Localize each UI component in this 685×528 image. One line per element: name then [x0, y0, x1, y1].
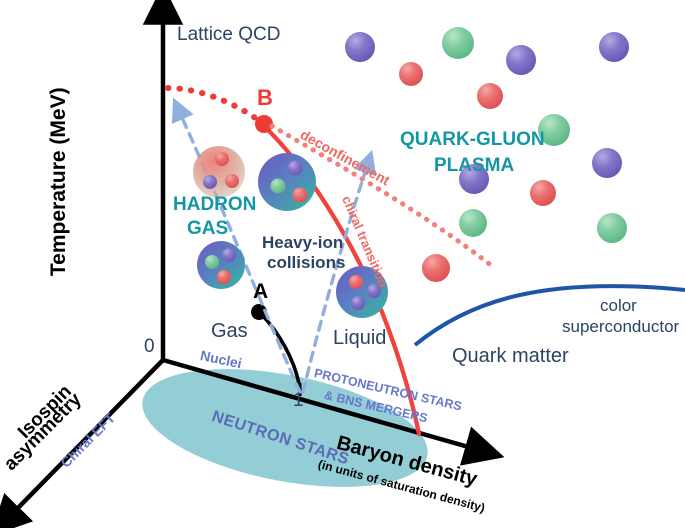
region-label-hadron-gas-line2: GAS	[187, 218, 228, 239]
tick-label-one: 1	[293, 390, 304, 411]
heavy-ion-collisions-label-line2: collisions	[267, 253, 345, 272]
tick-label-zero: 0	[144, 336, 155, 357]
region-label-color-superconductor-line1: color	[600, 296, 637, 315]
hadron-bubble	[197, 241, 245, 289]
hadron-bubble	[258, 153, 316, 211]
region-label-quark-matter: Quark matter	[452, 345, 569, 367]
temperature-axis-label: Temperature (MeV)	[47, 57, 71, 307]
region-label-hadron-gas-line1: HADRON	[173, 194, 256, 215]
region-label-liquid: Liquid	[333, 327, 386, 349]
region-label-gas: Gas	[211, 320, 248, 342]
endpoint-a-label: A	[253, 280, 268, 304]
heavy-ion-collisions-label-line1: Heavy-ion	[262, 233, 343, 252]
critical-point-b-label: B	[257, 86, 273, 111]
critical-point-b-marker	[255, 115, 273, 133]
region-label-qgp-line1: QUARK-GLUON	[400, 129, 545, 150]
color-superconductor-curve	[415, 286, 685, 345]
region-label-color-superconductor-line2: superconductor	[562, 317, 679, 336]
region-label-lattice-qcd: Lattice QCD	[177, 24, 280, 45]
region-label-qgp-line2: PLASMA	[434, 155, 514, 176]
hadron-bubble	[193, 146, 245, 198]
qcd-phase-diagram: Temperature (MeV) Baryon density (in uni…	[0, 0, 685, 528]
